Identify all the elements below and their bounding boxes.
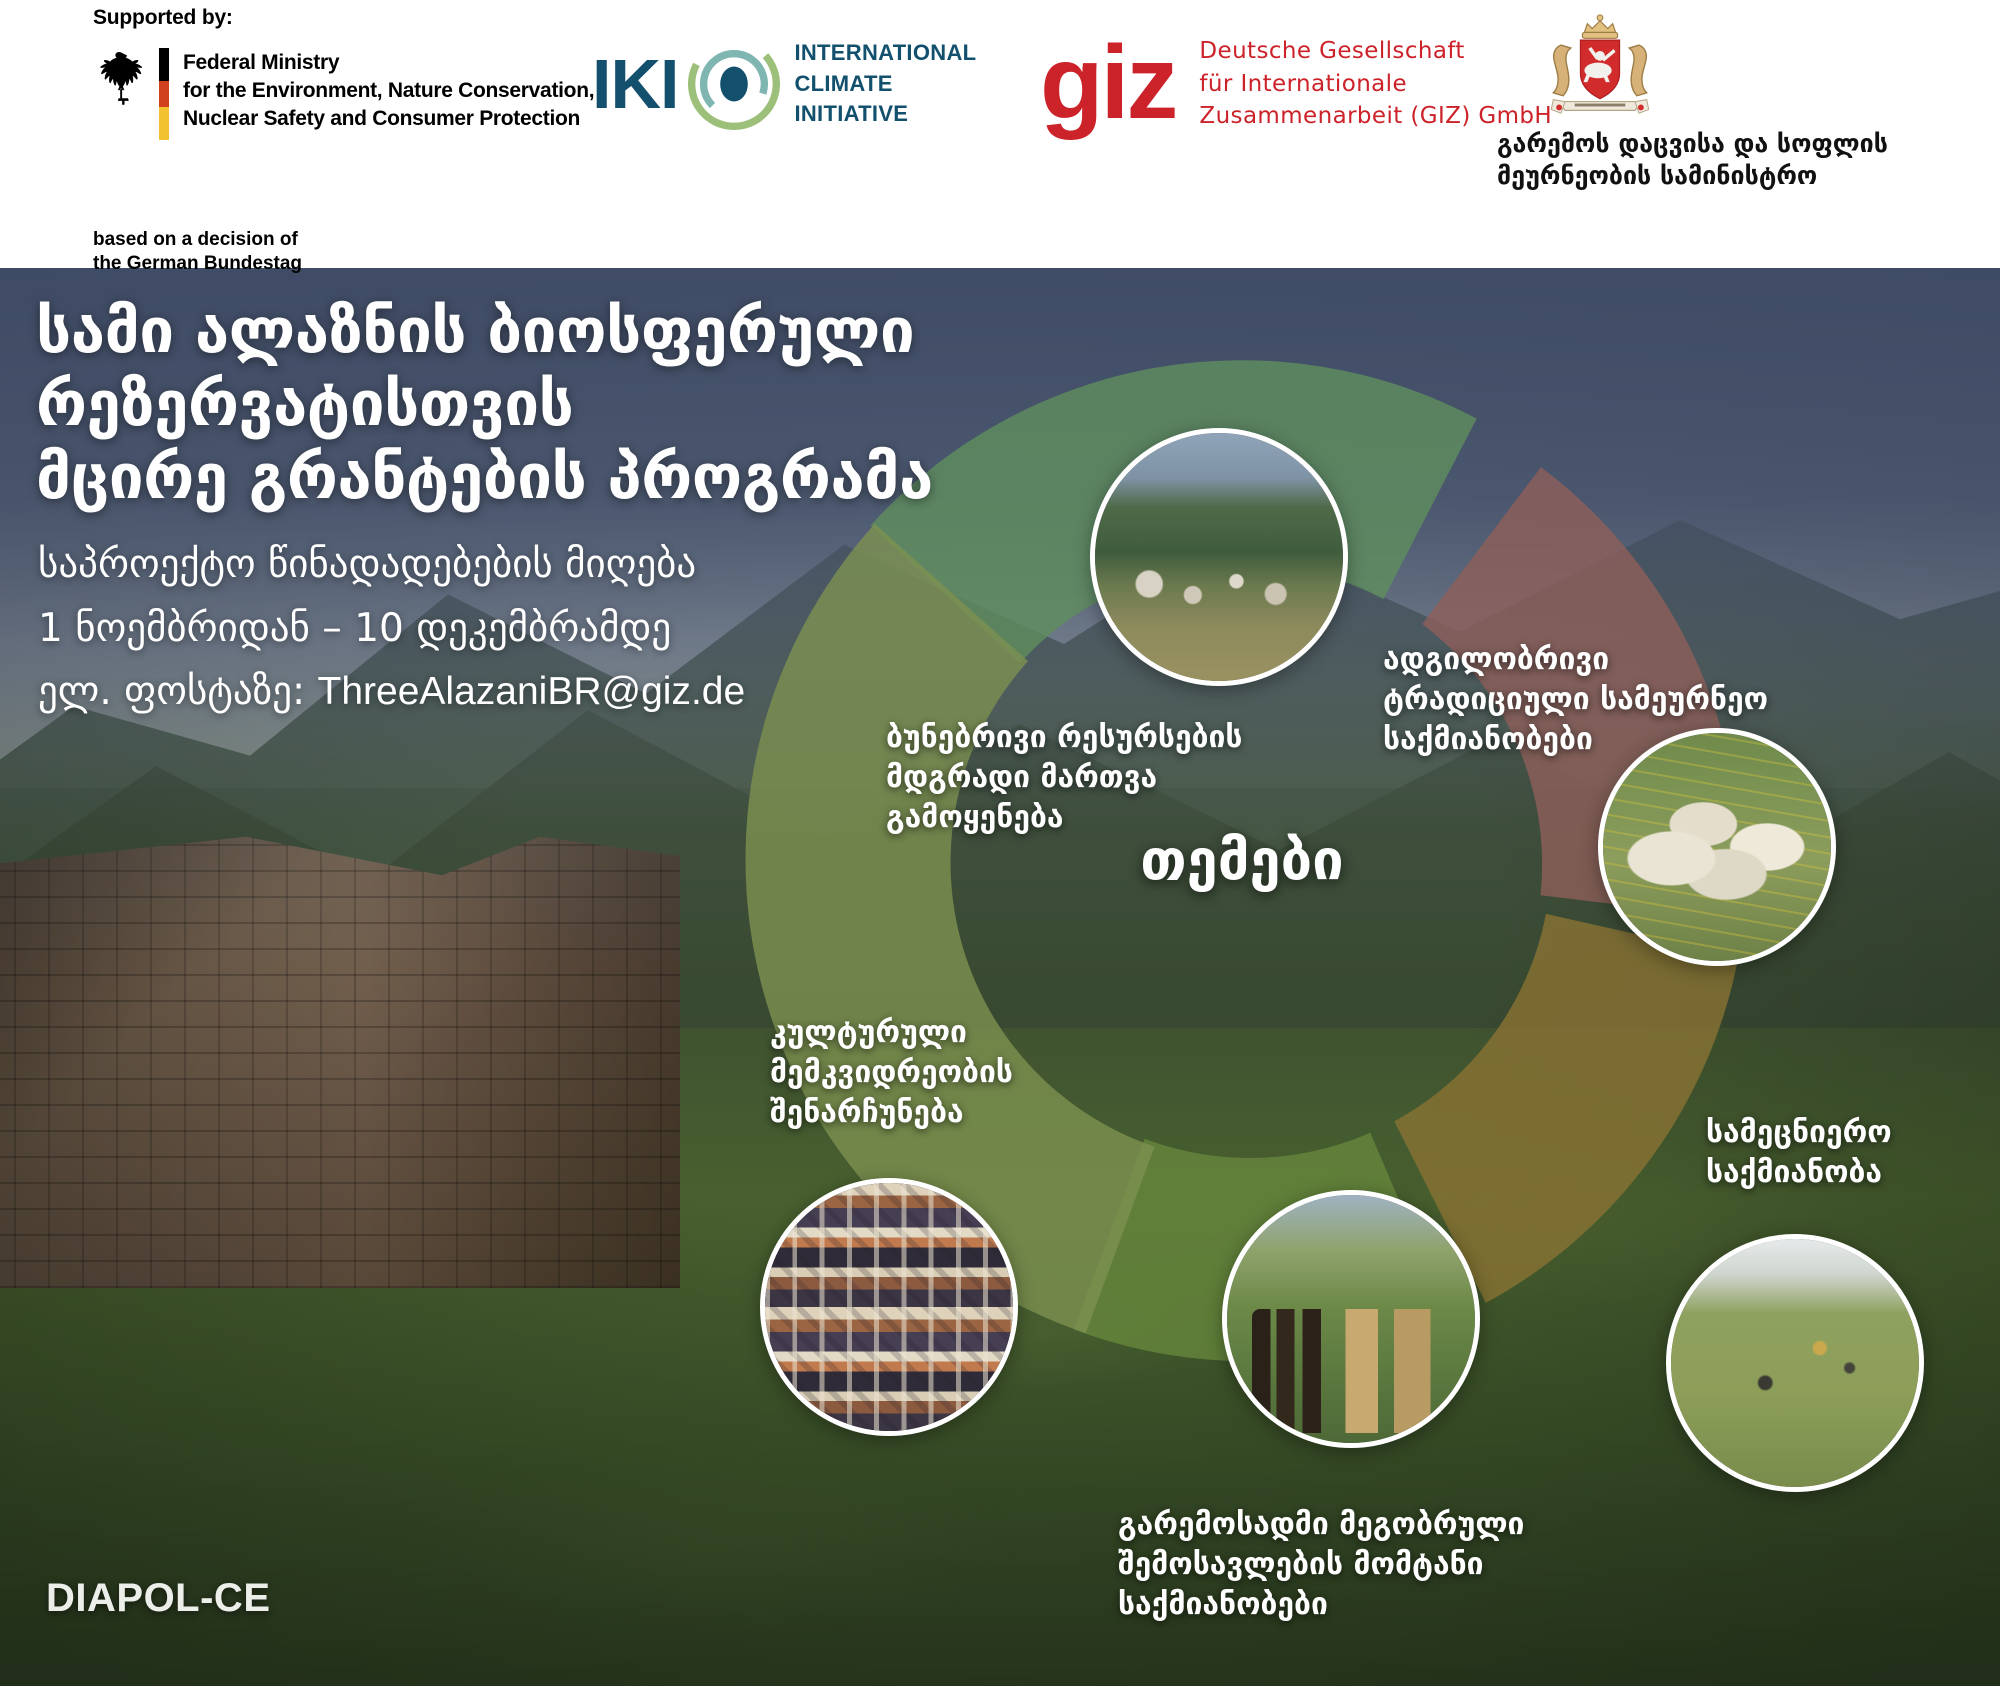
- georgia-coat-of-arms-icon: [1541, 12, 1659, 124]
- bmu-name: Federal Ministry for the Environment, Na…: [183, 48, 594, 133]
- woven-carpet-photo: [760, 1178, 1018, 1436]
- iki-wordmark: IKI: [592, 49, 678, 119]
- german-eagle-icon: [92, 48, 146, 110]
- ministry-logo: გარემოს დაცვისა და სოფლის მეურნეობის სამ…: [1497, 12, 1967, 191]
- field-survey-photo-image: [1671, 1239, 1919, 1487]
- iki-logo: IKI INTERNATIONAL CLIMATE INITIATIVE: [592, 38, 976, 130]
- email-address[interactable]: ThreeAlazaniBR@giz.de: [318, 670, 746, 713]
- label-natural-resources: ბუნებრივი რესურსების მდგრადი მართვა გამო…: [886, 718, 1356, 839]
- label-cultural-heritage: კულტურული მემკვიდრეობის შენარჩუნება: [770, 1013, 1100, 1134]
- stone-ruin-shading: [0, 808, 680, 1288]
- iki-name: INTERNATIONAL CLIMATE INITIATIVE: [794, 38, 976, 129]
- bmu-logo: Federal Ministry for the Environment, Na…: [92, 48, 594, 140]
- sheep-flock-photo: [1598, 728, 1836, 966]
- poster-root: Supported by: Federal Ministry for the E…: [0, 0, 2000, 1686]
- header-logo-bar: Supported by: Federal Ministry for the E…: [0, 0, 2000, 268]
- deadline-dates: 1 ნოემბრიდან – 10 დეკემბრამდე: [38, 598, 1038, 660]
- giz-logo: giz Deutsche Gesellschaft für Internatio…: [1040, 35, 1552, 133]
- deadline-label: საპროექტო წინადადებების მიღება: [38, 534, 1038, 596]
- wine-products-photo-image: [1227, 1195, 1475, 1443]
- contact-line: ელ. ფოსტაზე: ThreeAlazaniBR@giz.de: [38, 661, 1038, 723]
- email-label: ელ. ფოსტაზე:: [38, 669, 305, 714]
- field-survey-photo: [1666, 1234, 1924, 1492]
- page-title: სამი ალაზნის ბიოსფერული რეზერვატისთვის მ…: [36, 294, 1236, 513]
- diapol-ce-logo: DIAPOL-CE: [46, 1576, 271, 1621]
- woven-carpet-photo-image: [765, 1183, 1013, 1431]
- iki-concentric-circles-icon: [688, 38, 780, 130]
- german-flag-bar: [159, 48, 169, 140]
- ministry-name: გარემოს დაცვისა და სოფლის მეურნეობის სამ…: [1497, 128, 1967, 191]
- deadline-info-block: საპროექტო წინადადებების მიღება 1 ნოემბრი…: [38, 534, 1038, 725]
- bundestag-note: based on a decision of the German Bundes…: [93, 228, 302, 277]
- giz-wordmark: giz: [1040, 38, 1175, 130]
- wine-products-photo: [1222, 1190, 1480, 1448]
- label-eco-friendly-income: გარემოსადმი მეგობრული შემოსავლების მომტა…: [1118, 1505, 1648, 1626]
- label-scientific-activity: სამეცნიერო საქმიანობა: [1706, 1113, 2000, 1193]
- sheep-flock-photo-image: [1603, 733, 1831, 961]
- supported-by-label: Supported by:: [93, 6, 233, 30]
